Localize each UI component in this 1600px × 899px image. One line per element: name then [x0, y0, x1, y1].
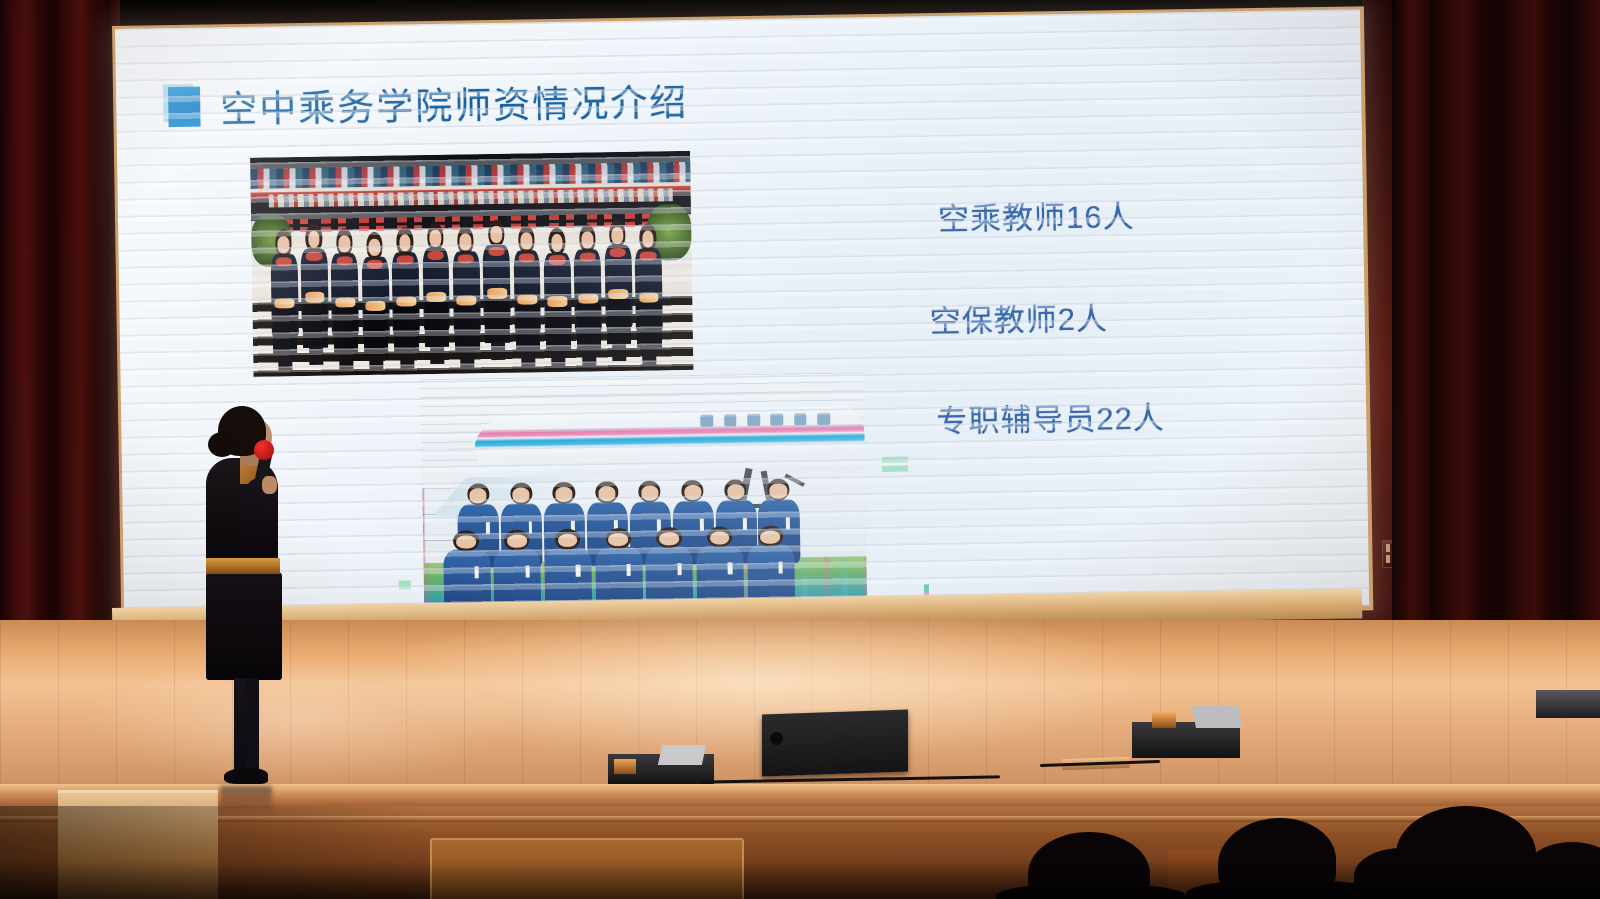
presenter-with-microphone [196, 406, 288, 790]
led-screen[interactable]: 空中乘务学院师资情况介绍 [112, 6, 1373, 630]
stage-curtain-left [0, 0, 120, 680]
led-dead-pixel-artifact [399, 580, 411, 589]
slide-title-row: 空中乘务学院师资情况介绍 [168, 72, 689, 134]
bullet-item-2: 空保教师2人 [929, 293, 1108, 341]
team-rows [449, 467, 841, 610]
auditorium-scene: 空中乘务学院师资情况介绍 [0, 0, 1600, 899]
bullet-item-1: 空乘教师16人 [938, 191, 1135, 239]
stage-light-left [608, 754, 714, 786]
bullet-item-3: 专职辅导员22人 [936, 393, 1165, 442]
blue-square-bullet-icon [168, 87, 201, 127]
presentation-slide: 空中乘务学院师资情况介绍 [115, 9, 1369, 624]
slide-title: 空中乘务学院师资情况介绍 [220, 72, 689, 133]
maintenance-team-aircraft-photo [421, 372, 868, 615]
microphone-head-icon [254, 440, 274, 460]
screen-surface[interactable]: 空中乘务学院师资情况介绍 [115, 9, 1369, 624]
stage-monitor-speaker [762, 709, 908, 776]
stage-light-right [1132, 722, 1240, 758]
crew-row [269, 223, 676, 361]
cabin-crew-group-photo [250, 151, 693, 377]
bottom-vignette [0, 860, 1600, 899]
led-dead-pixel-artifact [882, 457, 908, 463]
stage-equipment-box [1536, 690, 1600, 718]
